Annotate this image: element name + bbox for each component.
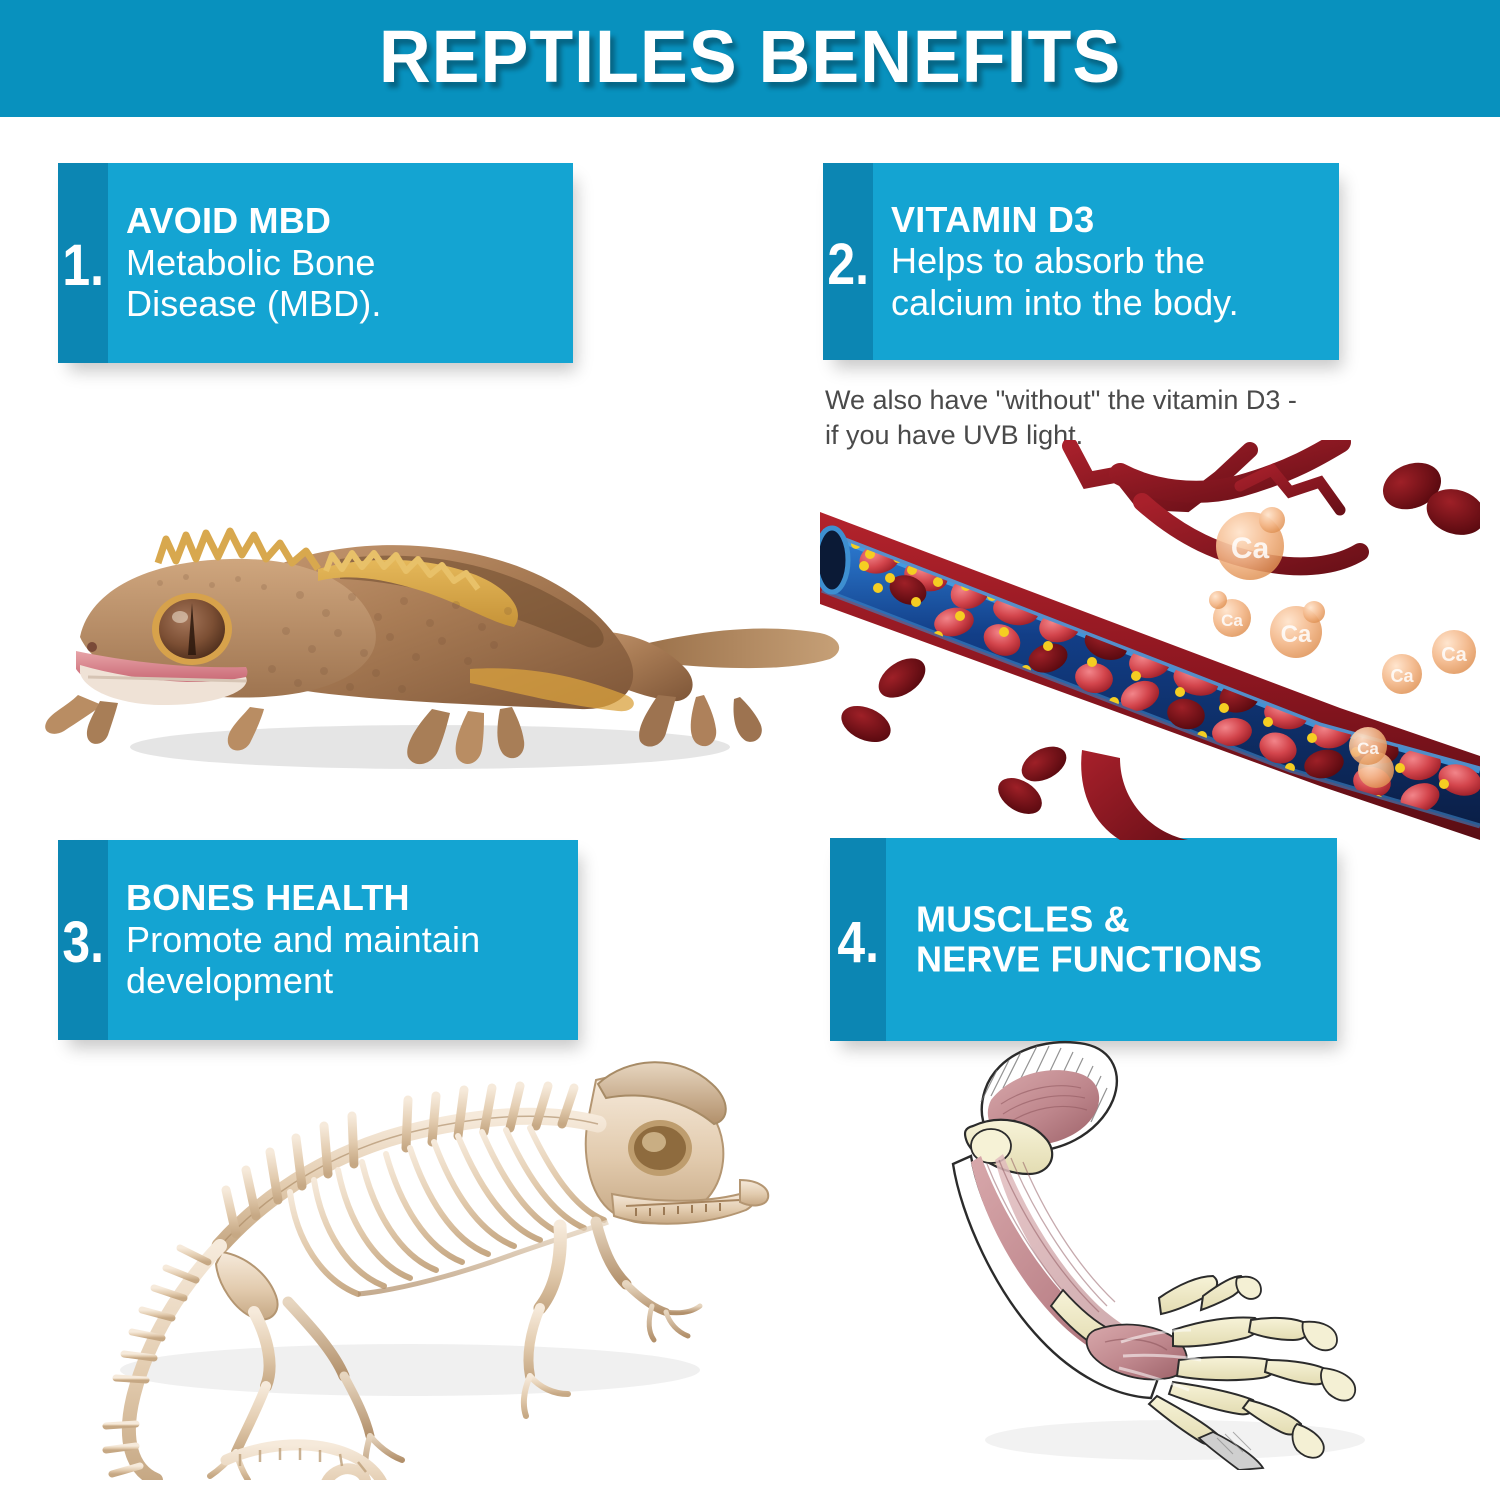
benefit-panel-4: 4. MUSCLES & NERVE FUNCTIONS (830, 838, 1337, 1041)
panel-4-number: 4. (837, 914, 879, 972)
panel-2-number-strip: 2. (823, 163, 873, 360)
panel-3-number: 3. (62, 914, 104, 972)
calcium-bubble-label-1: Ca (1231, 532, 1270, 565)
crested-gecko-image (40, 455, 860, 805)
reptile-limb-muscle-image (945, 1030, 1395, 1470)
panel-4-text: MUSCLES & NERVE FUNCTIONS (916, 899, 1325, 980)
panel-1-number-strip: 1. (58, 163, 108, 363)
panel-1-title: AVOID MBD (126, 201, 561, 242)
panel-4-title: MUSCLES & (916, 899, 1325, 940)
panel-3-title: BONES HEALTH (126, 878, 566, 919)
infographic-poster: REPTILES BENEFITS 1. AVOID MBD Metabolic… (0, 0, 1500, 1497)
calcium-bubble-label-4: Ca (1390, 666, 1414, 686)
panel-1-number: 1. (62, 237, 104, 295)
panel-1-text: AVOID MBD Metabolic Bone Disease (MBD). (126, 201, 561, 325)
panel-3-body-line1: Promote and maintain (126, 919, 566, 961)
panel-4-title-line2: NERVE FUNCTIONS (916, 940, 1325, 981)
panel-2-text: VITAMIN D3 Helps to absorb the calcium i… (891, 199, 1327, 323)
header-banner: REPTILES BENEFITS (0, 0, 1500, 117)
calcium-bubble-label-2: Ca (1221, 611, 1243, 630)
panel-3-text: BONES HEALTH Promote and maintain develo… (126, 878, 566, 1002)
panel-2-number: 2. (827, 236, 869, 294)
panel-2-body-line1: Helps to absorb the (891, 240, 1327, 282)
panel-3-body-line2: development (126, 960, 566, 1002)
note-line-1: We also have "without" the vitamin D3 - (825, 383, 1365, 418)
benefit-panel-3: 3. BONES HEALTH Promote and maintain dev… (58, 840, 578, 1040)
panel-1-body-line1: Metabolic Bone (126, 242, 561, 284)
panel-3-number-strip: 3. (58, 840, 108, 1040)
benefit-panel-1: 1. AVOID MBD Metabolic Bone Disease (MBD… (58, 163, 573, 363)
panel-2-body-line2: calcium into the body. (891, 282, 1327, 324)
panel-2-title: VITAMIN D3 (891, 199, 1327, 240)
blood-vessel-calcium-image: Ca Ca Ca Ca Ca (820, 440, 1480, 840)
benefit-panel-2: 2. VITAMIN D3 Helps to absorb the calciu… (823, 163, 1339, 360)
calcium-bubble-label-3: Ca (1281, 621, 1312, 648)
panel-1-body-line2: Disease (MBD). (126, 283, 561, 325)
page-title: REPTILES BENEFITS (23, 0, 1478, 117)
chameleon-skeleton-image (40, 1040, 780, 1480)
calcium-bubble-label-6: Ca (1357, 739, 1379, 758)
calcium-bubble-label-5: Ca (1441, 644, 1467, 666)
panel-4-number-strip: 4. (830, 838, 886, 1041)
